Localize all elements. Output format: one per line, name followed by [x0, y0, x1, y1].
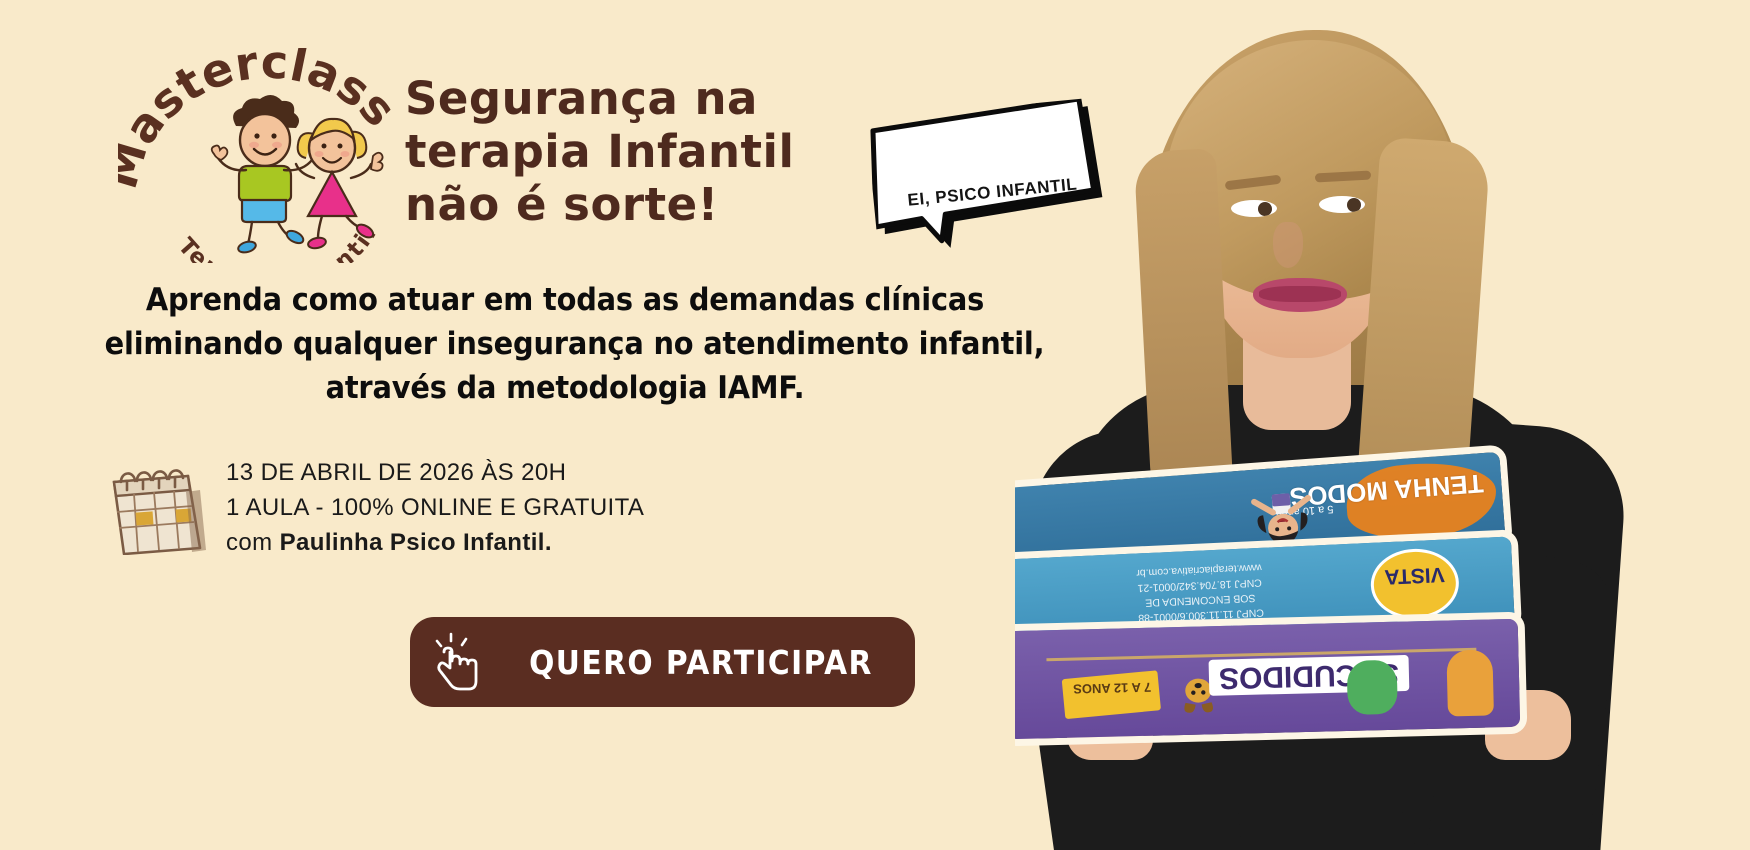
- page-title: Segurança na terapia Infantil não é sort…: [405, 72, 865, 231]
- lips-inner: [1259, 286, 1341, 302]
- subtitle-line-3: através da metodologia IAMF.: [105, 366, 1026, 410]
- subtitle-line-2: eliminando qualquer insegurança no atend…: [105, 322, 1026, 366]
- subtitle-line-1: Aprenda como atuar em todas as demandas …: [105, 278, 1026, 322]
- event-format: 1 AULA - 100% ONLINE E GRATUITA: [226, 491, 644, 526]
- host-name: Paulinha Psico Infantil.: [280, 529, 552, 556]
- box3-age: 7 A 12 ANOS: [1067, 680, 1157, 697]
- girl-figure: [296, 119, 383, 250]
- event-date: 13 DE ABRIL DE 2026 ÀS 20H: [226, 456, 644, 491]
- promo-banner: Masterclass Terapia Infantil: [0, 0, 1750, 850]
- eye-right: [1319, 196, 1365, 213]
- woman-holding-game-boxes-photo: TENHA MODOS 5 a 10 anos FA: [1015, 0, 1750, 850]
- box1-girl-illustration: [1249, 480, 1316, 550]
- headline-line-2: terapia Infantil: [405, 125, 865, 178]
- svg-text:Terapia Infantil: Terapia Infantil: [173, 221, 383, 263]
- boy-figure: [212, 95, 312, 254]
- cta-label: QUERO PARTICIPAR: [529, 643, 873, 682]
- nose: [1273, 222, 1303, 268]
- subtitle: Aprenda como atuar em todas as demandas …: [105, 278, 1026, 410]
- masterclass-logo: Masterclass Terapia Infantil: [118, 48, 418, 263]
- click-hand-cursor-icon: [434, 632, 484, 692]
- quero-participar-button[interactable]: QUERO PARTICIPAR: [410, 617, 915, 707]
- box2-title: VISTA: [1374, 561, 1455, 589]
- giraffe-illustration: [1446, 649, 1494, 716]
- event-details: 13 DE ABRIL DE 2026 ÀS 20H 1 AULA - 100%…: [108, 452, 644, 560]
- game-box-sacudidos: 7 A 12 ANOS SACUDIDOS: [1015, 619, 1520, 739]
- calendar-icon: [108, 460, 208, 555]
- headline-line-1: Segurança na: [405, 72, 865, 125]
- eye-left: [1231, 200, 1277, 217]
- event-host: com Paulinha Psico Infantil.: [226, 526, 644, 561]
- headline-line-3: não é sorte!: [405, 178, 865, 231]
- host-prefix: com: [226, 529, 280, 556]
- monster-illustration: [1347, 660, 1398, 715]
